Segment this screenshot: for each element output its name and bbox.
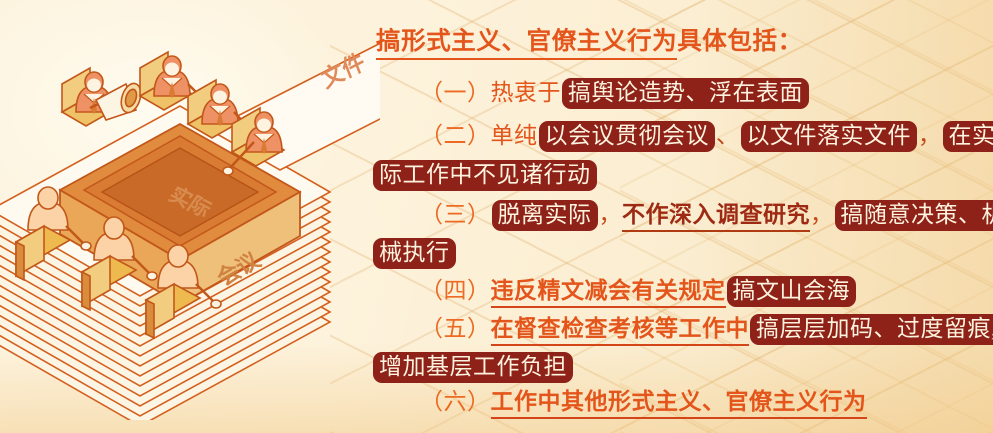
item-text-underlined: 在督查检查考核等工作中 [491,316,750,346]
list-item-continuation: 械执行 [372,238,457,269]
list-item: （四）违反精文减会有关规定搞文山会海 [420,276,857,307]
item-number: （五） [420,316,491,341]
list-item: （三）脱离实际，不作深入调查研究，搞随意决策、机 [420,200,993,231]
item-text-plain: 热衷于 [491,80,562,105]
item-highlight-chip: 搞舆论造势、浮在表面 [562,78,809,109]
page-title: 搞形式主义、官僚主义行为具体包括： [376,30,803,55]
list-item: （六）工作中其他形式主义、官僚主义行为 [420,390,867,413]
item-separator: ， [599,202,623,227]
item-number: （三） [420,202,491,227]
list-item-continuation: 增加基层工作负担 [372,352,574,383]
item-text-plain: 单纯 [491,123,538,148]
page-title-underlined: 搞形式主义、官僚主义行为 [376,28,677,60]
item-highlight-chip: 械执行 [373,238,456,269]
list-item: （一）热衷于搞舆论造势、浮在表面 [420,78,810,109]
item-separator: 、 [716,123,740,148]
text-panel: 搞形式主义、官僚主义行为具体包括： （一）热衷于搞舆论造势、浮在表面 （二）单纯… [358,14,988,424]
meeting-illustration: 文件 实际 [0,40,380,420]
item-highlight-chip: 以会议贯彻会议 [539,121,716,152]
item-highlight-chip: 搞文山会海 [727,276,857,307]
item-number: （四） [420,278,491,303]
item-highlight-chip: 增加基层工作负担 [373,352,573,383]
item-number: （六） [420,389,491,414]
list-item-continuation: 际工作中不见诸行动 [372,160,598,191]
item-number: （一） [420,80,491,105]
infographic-canvas: 文件 实际 [0,0,993,433]
item-highlight-chip: 搞层层加码、过度留痕, [750,314,993,345]
item-text-underlined: 违反精文减会有关规定 [491,278,726,308]
item-highlight-chip: 以文件落实文件 [741,121,918,152]
item-highlight-chip: 脱离实际 [492,200,598,231]
item-highlight-chip: 在实 [943,121,993,152]
item-highlight-chip: 搞随意决策、机 [835,200,993,231]
item-number: （二） [420,123,491,148]
item-separator: ， [918,123,942,148]
item-separator: ， [810,202,834,227]
item-text-underlined: 工作中其他形式主义、官僚主义行为 [491,389,867,419]
list-item: （二）单纯以会议贯彻会议、以文件落实文件，在实 [420,121,993,152]
item-text-underlined: 不作深入调查研究 [622,202,810,232]
item-highlight-chip: 际工作中不见诸行动 [373,160,597,191]
page-title-tail: 具体包括： [677,28,803,55]
list-item: （五）在督查检查考核等工作中搞层层加码、过度留痕, [420,314,993,345]
